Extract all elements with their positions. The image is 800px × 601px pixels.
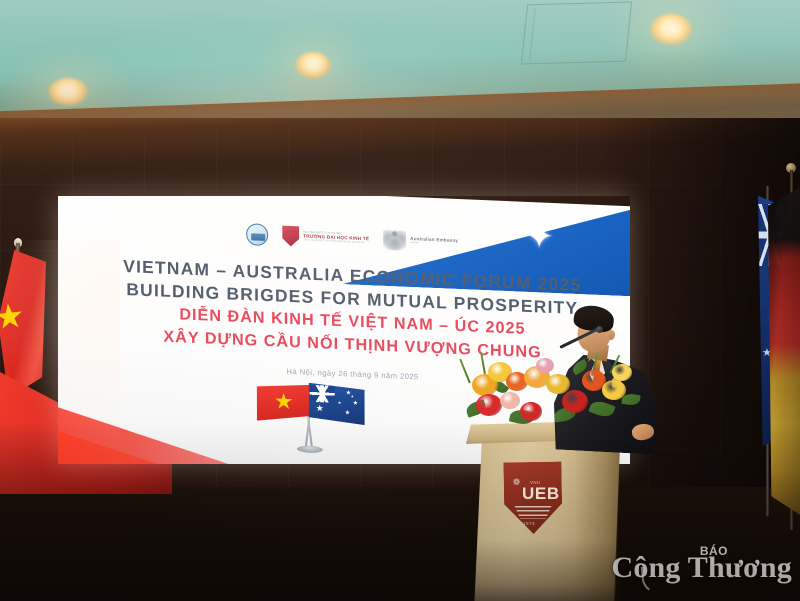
downlight-left-icon bbox=[48, 78, 88, 106]
desk-vietnam-star-icon: ★ bbox=[274, 390, 294, 413]
flower-bloom bbox=[546, 374, 570, 394]
germany-style-hall-flag-shading bbox=[768, 186, 800, 516]
desk-au-star-4-icon: ★ bbox=[338, 401, 342, 405]
flower-leaf bbox=[588, 398, 615, 419]
vietnam-flag-star-icon: ★ bbox=[0, 298, 26, 335]
ueb-crest-year-label: 1974 bbox=[523, 521, 535, 526]
ueb-logo: ĐẠI HỌC QUỐC GIA HÀ NỘI TRƯỜNG ĐẠI HỌC K… bbox=[282, 225, 369, 250]
desk-vietnam-flag: ★ bbox=[257, 383, 311, 423]
embassy-logo-text: Australian Embassy Vietnam bbox=[410, 237, 458, 246]
flower-bloom bbox=[500, 392, 520, 409]
desk-au-star-5-icon: ★ bbox=[351, 396, 354, 400]
microphone-head-icon bbox=[596, 326, 603, 333]
lectern-shadow bbox=[466, 540, 628, 601]
flower-bloom bbox=[562, 390, 588, 413]
desk-au-commonwealth-star-icon: ★ bbox=[316, 404, 324, 413]
ueb-shield-icon bbox=[282, 225, 299, 247]
australian-embassy-logo: Australian Embassy Vietnam bbox=[383, 230, 458, 253]
ueb-logo-text: ĐẠI HỌC QUỐC GIA HÀ NỘI TRƯỜNG ĐẠI HỌC K… bbox=[303, 232, 369, 245]
desk-australia-flag: ★ ★ ★ ★ ★ ★ bbox=[309, 383, 365, 425]
desk-au-star-2-icon: ★ bbox=[353, 401, 358, 407]
ueb-crest-seal-icon: ❁ bbox=[511, 478, 522, 494]
desk-au-star-3-icon: ★ bbox=[345, 410, 350, 416]
watermark-main: Công Thương bbox=[611, 553, 792, 583]
conference-photo: ★ ★ ✦ ĐẠI HỌC QUỐC GIA HÀ NỘI TRƯỜN bbox=[0, 0, 800, 601]
flower-spray bbox=[480, 352, 486, 374]
ceiling-access-panel bbox=[521, 1, 632, 64]
downlight-right-icon bbox=[650, 14, 692, 45]
desk-flags-graphic: ★ ★ ★ ★ ★ ★ ★ bbox=[249, 376, 367, 455]
vnu-circle-icon bbox=[246, 223, 268, 246]
ueb-crest-label: UEB bbox=[522, 484, 560, 504]
flower-bloom bbox=[602, 380, 626, 400]
news-watermark: BÁO Công Thương bbox=[611, 545, 792, 583]
speaker-ear bbox=[607, 330, 615, 341]
vnu-logo bbox=[246, 223, 268, 246]
desk-flag-base bbox=[297, 445, 323, 453]
union-jack-icon bbox=[310, 385, 335, 403]
podium-flower-arrangement bbox=[462, 352, 642, 442]
flower-bloom bbox=[536, 358, 554, 373]
flower-bloom bbox=[612, 364, 632, 381]
downlight-center-icon bbox=[295, 52, 331, 79]
australian-coat-of-arms-icon bbox=[383, 230, 406, 251]
flower-bloom bbox=[520, 402, 542, 421]
flower-bloom bbox=[476, 394, 502, 416]
